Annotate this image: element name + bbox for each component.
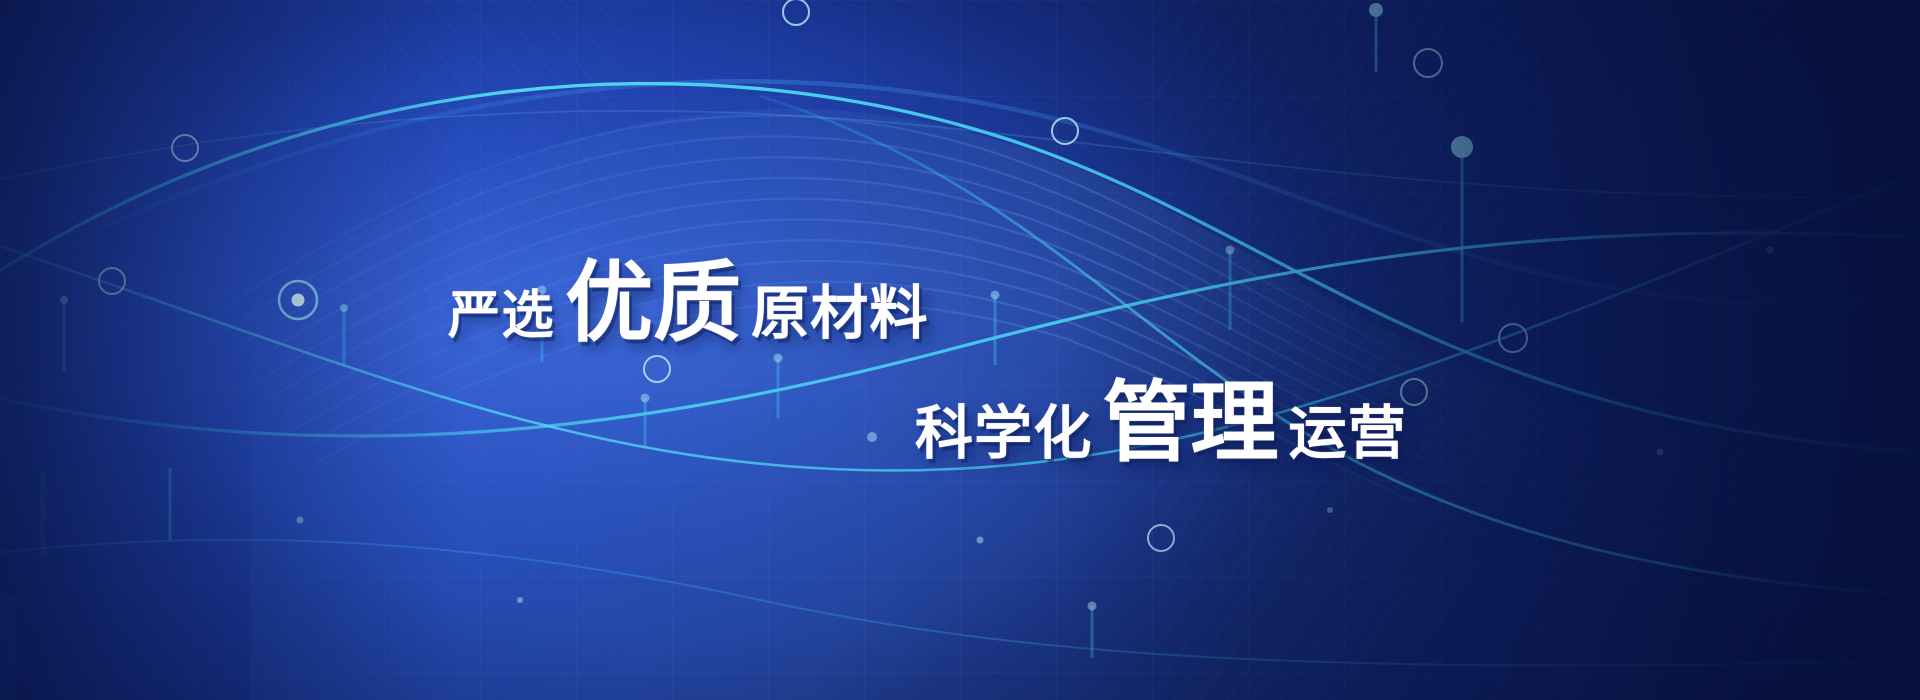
vignette-overlay — [0, 0, 1920, 700]
tech-banner: 严选优质原材料 科学化管理运营 — [0, 0, 1920, 700]
